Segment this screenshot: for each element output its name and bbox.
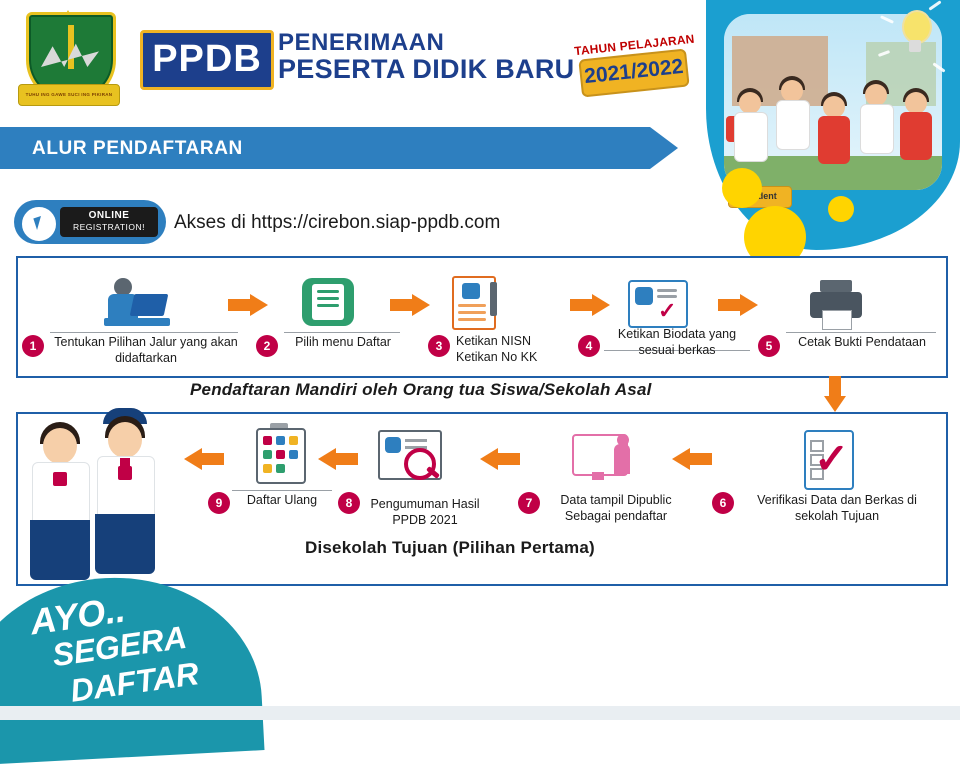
access-url-text: Akses di https://cirebon.siap-ppdb.com (174, 212, 500, 234)
arrow-left-1 (672, 448, 712, 470)
step-number-1: 1 (22, 335, 44, 357)
section-banner: ALUR PENDAFTARAN (0, 127, 650, 169)
id-card-check-icon: ✓ (628, 280, 688, 326)
step-label-7: Data tampil Dipublic Sebagai pendaftar (542, 492, 690, 524)
step-badge-2: 2 (256, 335, 278, 357)
step-number-8: 8 (338, 492, 360, 514)
arrow-right-3 (570, 294, 610, 316)
flow-row-1-caption: Pendaftaran Mandiri oleh Orang tua Siswa… (190, 380, 652, 400)
step-badge-6: 6 (712, 492, 734, 514)
photo-student-5 (896, 92, 936, 184)
step-label-6: Verifikasi Data dan Berkas di sekolah Tu… (738, 492, 936, 524)
emblem-motto-text: TUHU ING GAWE SUCI ING PIKIRAN (19, 85, 119, 105)
emblem-motto-ribbon: TUHU ING GAWE SUCI ING PIKIRAN (18, 84, 120, 106)
decorative-dot (828, 196, 854, 222)
step-number-2: 2 (256, 335, 278, 357)
footer-bar (0, 706, 960, 720)
online-registration-label: ONLINE REGISTRATION! (60, 207, 158, 237)
cursor-icon (33, 216, 44, 230)
online-label-line2: REGISTRATION! (60, 222, 158, 232)
step-badge-4: 4 (578, 335, 600, 357)
step-number-9: 9 (208, 492, 230, 514)
step-label-9: Daftar Ulang (234, 492, 330, 508)
student-boy (84, 422, 166, 580)
step-number-3: 3 (428, 335, 450, 357)
step-number-6: 6 (712, 492, 734, 514)
lightbulb-icon (894, 10, 936, 62)
step-label-3: Ketikan NISN Ketikan No KK (456, 333, 576, 365)
person-laptop-icon (92, 272, 184, 328)
banner-title: ALUR PENDAFTARAN (32, 138, 243, 160)
document-search-icon (378, 428, 444, 480)
ppdb-acronym-text: PPDB (143, 33, 271, 85)
step-number-5: 5 (758, 335, 780, 357)
flow-row-2-caption: Disekolah Tujuan (Pilihan Pertama) (305, 538, 595, 558)
photo-student-2 (772, 80, 812, 184)
ppdb-acronym-box: PPDB (140, 30, 274, 90)
arrow-left-3 (318, 448, 358, 470)
west-java-emblem: TUHU ING GAWE SUCI ING PIKIRAN (18, 8, 118, 108)
step-label-8: Pengumuman Hasil PPDB 2021 (360, 496, 490, 528)
notes-clipboard-icon (250, 428, 308, 484)
photo-student-3 (814, 96, 854, 184)
academic-year-value: 2021/2022 (581, 51, 688, 94)
step-badge-1: 1 (22, 335, 44, 357)
step-badge-3: 3 (428, 335, 450, 357)
step-badge-5: 5 (758, 335, 780, 357)
step-label-2: Pilih menu Daftar (284, 334, 402, 350)
arrow-down-connector (824, 376, 846, 412)
arrow-right-2 (390, 294, 430, 316)
cursor-badge-circle (20, 205, 58, 243)
academic-year-group: TAHUN PELAJARAN 2021/2022 (562, 38, 702, 90)
step-badge-9: 9 (208, 492, 230, 514)
step-badge-8: 8 (338, 492, 360, 514)
step-label-1: Tentukan Pilihan Jalur yang akan didafta… (50, 334, 242, 366)
clipboard-check-icon: ✓ (800, 430, 856, 490)
arrow-left-4 (184, 448, 224, 470)
step-label-5: Cetak Bukti Pendataan (786, 334, 938, 350)
arrow-left-2 (480, 448, 520, 470)
tablet-form-icon (296, 276, 360, 328)
printer-icon (808, 280, 864, 330)
form-pen-icon (446, 276, 504, 328)
arrow-right-4 (718, 294, 758, 316)
step-label-4: Ketikan Biodata yang sesuai berkas (602, 326, 752, 358)
decorative-dot (722, 168, 762, 208)
step-number-4: 4 (578, 335, 600, 357)
students-illustration (22, 418, 174, 580)
online-label-line1: ONLINE (60, 209, 158, 222)
header-title-line1: PENERIMAAN (278, 29, 444, 57)
online-registration-badge: ONLINE REGISTRATION! (14, 200, 166, 244)
step-badge-7: 7 (518, 492, 540, 514)
arrow-right-1 (228, 294, 268, 316)
step-number-7: 7 (518, 492, 540, 514)
photo-student-4 (856, 84, 896, 184)
header-title-line2: PESERTA DIDIK BARU (278, 54, 574, 85)
monitor-person-icon (572, 432, 632, 482)
